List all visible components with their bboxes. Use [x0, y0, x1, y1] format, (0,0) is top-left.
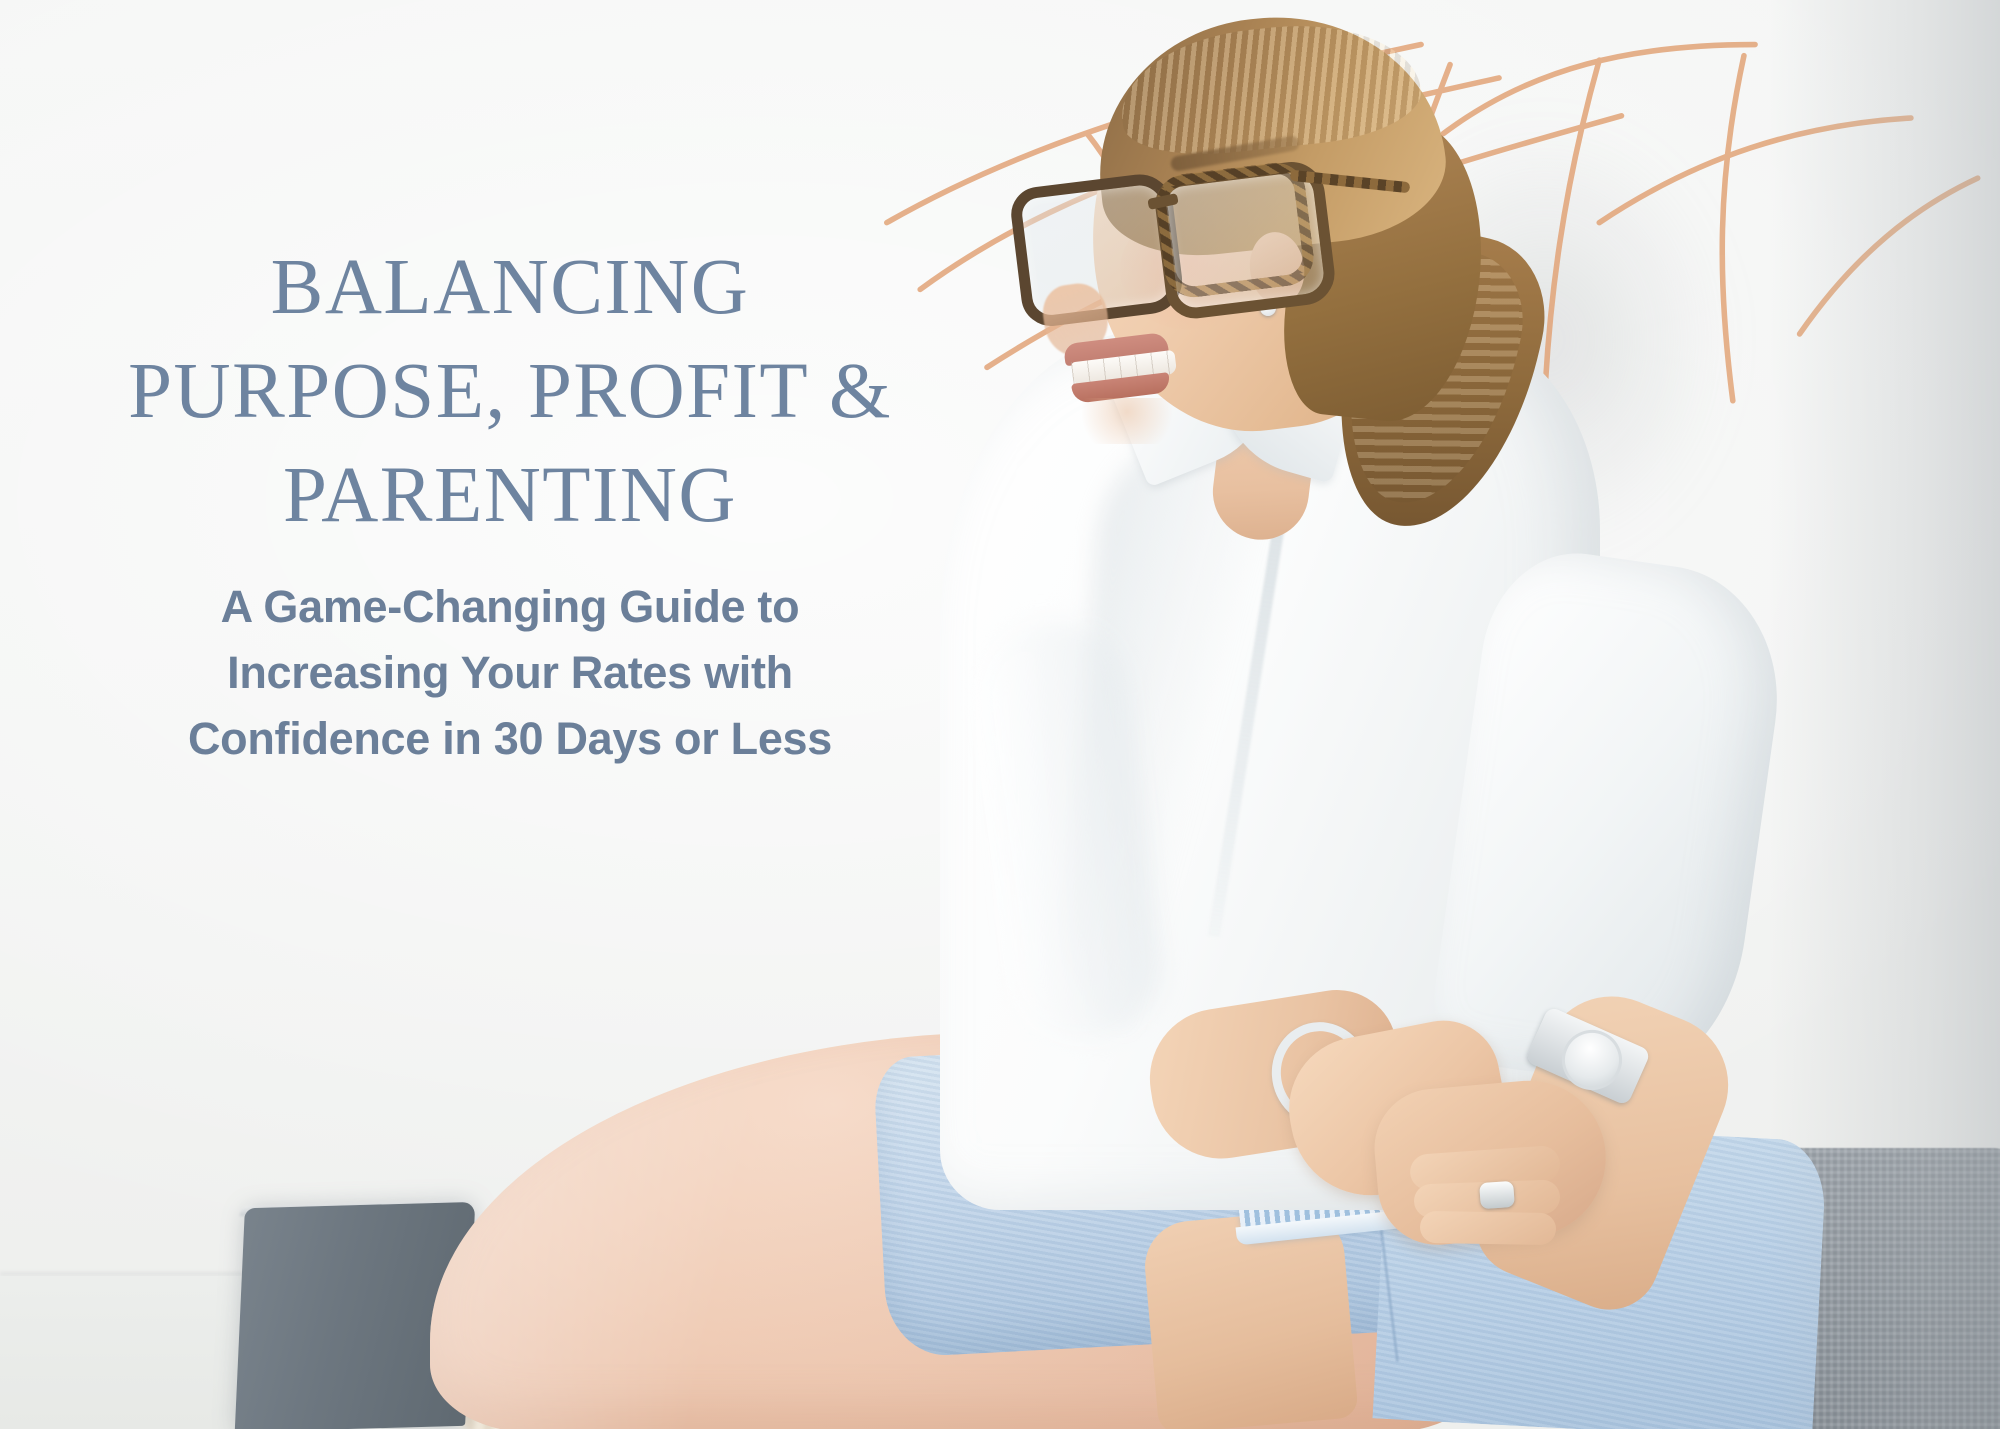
poster-canvas: BALANCING PURPOSE, PROFIT & PARENTING A … — [0, 0, 2000, 1429]
chin-shading — [1072, 398, 1182, 444]
finger-ring — [1420, 1211, 1557, 1245]
wall-shadow-right-edge — [1770, 0, 2000, 1429]
ring-jewelry — [1479, 1181, 1515, 1209]
